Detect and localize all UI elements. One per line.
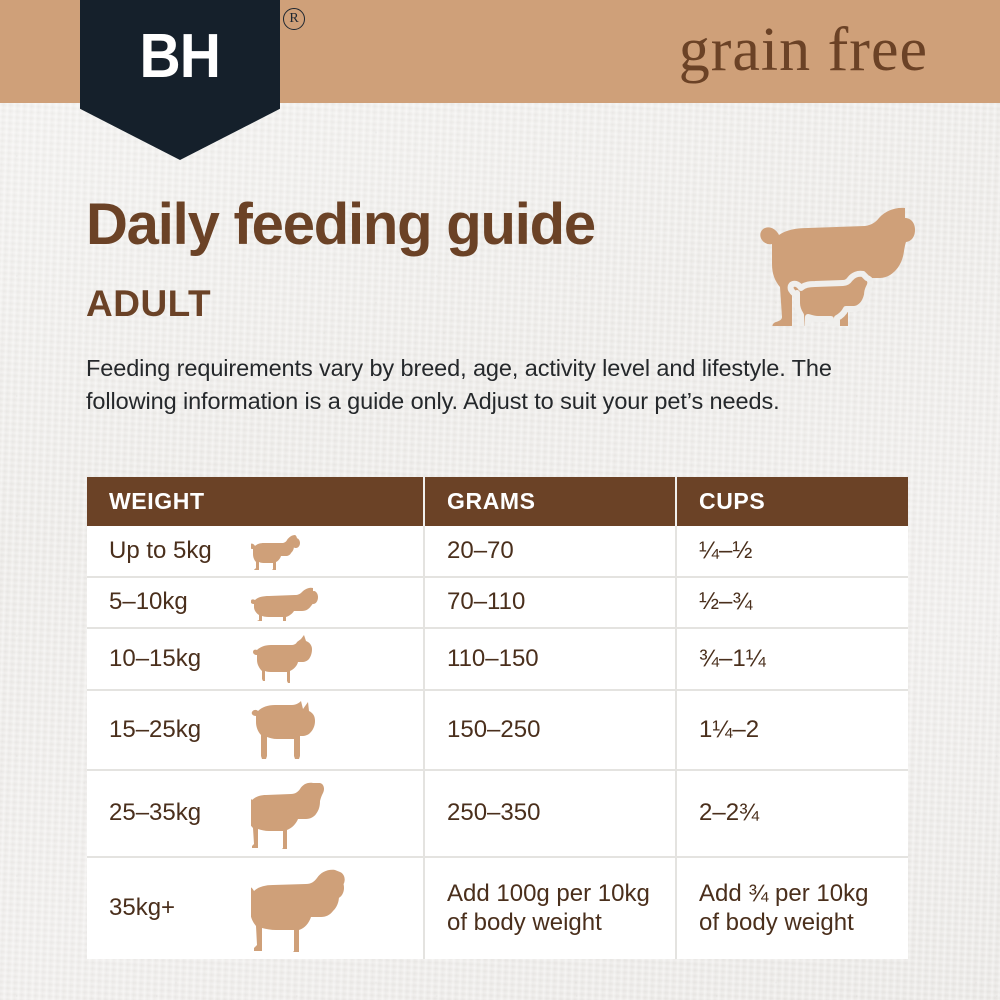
grain-free-tagline: grain free — [679, 16, 928, 84]
column-header-weight: WEIGHT — [87, 477, 424, 526]
table-row: 35kg+ Add 100g per 10kg of body weight A… — [87, 857, 908, 959]
medium-spitz-silhouette-icon — [251, 699, 381, 761]
large-pointer-silhouette-icon — [251, 779, 381, 849]
feeding-guide-table: WEIGHT GRAMS CUPS Up to 5kg — [87, 477, 908, 959]
page-title: Daily feeding guide — [86, 196, 595, 254]
weight-label: 10–15kg — [109, 645, 241, 673]
registered-trademark-icon: R — [283, 8, 305, 30]
cups-cell: ¾–1¼ — [676, 628, 908, 690]
cups-cell: ¼–½ — [676, 526, 908, 577]
small-terrier-silhouette-icon — [251, 532, 381, 570]
cups-cell: ½–¾ — [676, 577, 908, 628]
weight-cell: 10–15kg — [87, 628, 424, 690]
weight-label: 15–25kg — [109, 716, 241, 744]
weight-cell: 35kg+ — [87, 857, 424, 959]
brand-logo-shield: BH — [80, 0, 280, 160]
brand-logo-text: BH — [140, 26, 221, 88]
table-row: Up to 5kg 20–70 ¼–½ — [87, 526, 908, 577]
dachshund-silhouette-icon — [251, 585, 381, 621]
grams-cell: 70–110 — [424, 577, 676, 628]
weight-cell: 15–25kg — [87, 690, 424, 770]
page-subtitle: ADULT — [86, 285, 211, 322]
column-header-grams: GRAMS — [424, 477, 676, 526]
table-row: 25–35kg 250–350 2–2¾ — [87, 770, 908, 857]
weight-cell: 25–35kg — [87, 770, 424, 857]
weight-cell: 5–10kg — [87, 577, 424, 628]
adult-dog-and-puppy-silhouette-icon — [755, 196, 940, 326]
grams-cell: Add 100g per 10kg of body weight — [424, 857, 676, 959]
weight-cell: Up to 5kg — [87, 526, 424, 577]
bulldog-silhouette-icon — [251, 635, 381, 683]
grams-cell: 20–70 — [424, 526, 676, 577]
weight-label: 25–35kg — [109, 799, 241, 827]
table-row: 15–25kg 150–250 1¼–2 — [87, 690, 908, 770]
cups-cell: Add ¾ per 10kg of body weight — [676, 857, 908, 959]
grams-cell: 150–250 — [424, 690, 676, 770]
table-row: 10–15kg 110–150 ¾–1¼ — [87, 628, 908, 690]
cups-cell: 2–2¾ — [676, 770, 908, 857]
grams-cell: 110–150 — [424, 628, 676, 690]
feeding-guide-page: BH R grain free Daily feeding guide ADUL… — [0, 0, 1000, 1000]
cups-cell: 1¼–2 — [676, 690, 908, 770]
table-row: 5–10kg 70–110 ½–¾ — [87, 577, 908, 628]
weight-label: 5–10kg — [109, 588, 241, 616]
giant-mastiff-silhouette-icon — [251, 866, 381, 952]
weight-label: 35kg+ — [109, 894, 241, 922]
weight-label: Up to 5kg — [109, 537, 241, 565]
column-header-cups: CUPS — [676, 477, 908, 526]
grams-cell: 250–350 — [424, 770, 676, 857]
table-header-row: WEIGHT GRAMS CUPS — [87, 477, 908, 526]
intro-paragraph: Feeding requirements vary by breed, age,… — [86, 352, 846, 419]
